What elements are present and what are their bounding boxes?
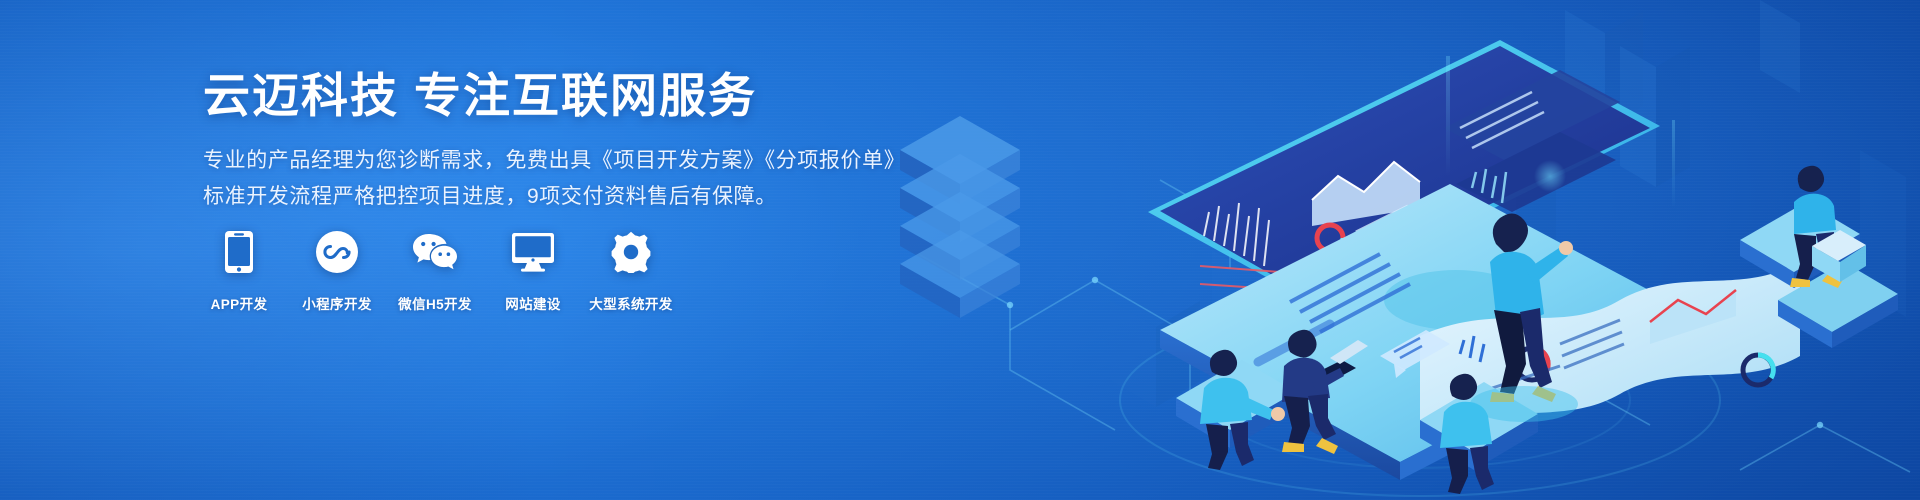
gear-icon xyxy=(610,229,652,275)
scroll-donut xyxy=(1516,348,1548,380)
service-item-website[interactable]: 网站建设 xyxy=(497,229,569,313)
screen-indicator-dot xyxy=(1327,275,1337,285)
pedestal-front-left xyxy=(1176,360,1296,448)
circuit-nodes xyxy=(1007,217,1823,428)
report-scroll xyxy=(1420,262,1800,434)
pedestal-right xyxy=(1740,202,1860,288)
person-foreground-left xyxy=(1200,350,1285,470)
circuit-lines xyxy=(920,180,1910,472)
screen-axis-line xyxy=(1200,266,1290,290)
scroll-donut-2 xyxy=(1743,355,1773,385)
screen-area-chart xyxy=(1312,162,1420,226)
service-item-mini-program[interactable]: 小程序开发 xyxy=(301,229,373,313)
screen-right-panel-top xyxy=(1444,70,1620,160)
scroll-area-chart xyxy=(1650,290,1736,344)
person-sitting-laptop xyxy=(1282,330,1368,454)
monitor-icon xyxy=(511,229,555,275)
wechat-icon xyxy=(411,229,459,275)
hero-subtitle-line-1: 专业的产品经理为您诊断需求，免费出具《项目开发方案》《分项报价单》 xyxy=(203,144,923,178)
person-foreground-right xyxy=(1440,374,1494,494)
pedestal-front-right xyxy=(1420,382,1538,470)
mobile-phone-icon xyxy=(224,229,254,275)
mini-program-icon xyxy=(316,229,358,275)
scroll-bars xyxy=(1460,336,1484,362)
box-parcel xyxy=(1812,230,1866,282)
screen-text-lines xyxy=(1308,206,1412,288)
service-item-wechat[interactable]: 微信H5开发 xyxy=(399,229,471,313)
service-label-app: APP开发 xyxy=(211,293,268,313)
light-streaks xyxy=(1446,56,1675,210)
hero-banner: 云迈科技 专注互联网服务 专业的产品经理为您诊断需求，免费出具《项目开发方案》《… xyxy=(0,0,1920,500)
person-with-box xyxy=(1790,166,1866,288)
tablet-text-lines xyxy=(1290,254,1410,332)
screen-chart-bars xyxy=(1204,203,1269,266)
screen-donut xyxy=(1317,225,1343,251)
service-label-website: 网站建设 xyxy=(505,293,561,313)
hero-subtitle-line-2: 标准开发流程严格把控项目进度，9项交付资料售后有保障。 xyxy=(203,180,923,214)
page-title: 云迈科技 专注互联网服务 xyxy=(203,70,923,122)
service-icon-list: APP开发 小程序开发 xyxy=(203,229,667,313)
service-item-app[interactable]: APP开发 xyxy=(203,229,275,313)
service-label-large-system: 大型系统开发 xyxy=(589,293,672,313)
service-item-large-system[interactable]: 大型系统开发 xyxy=(595,229,667,313)
floor-glow xyxy=(1120,304,1720,496)
tooltip-card xyxy=(1380,330,1450,378)
service-label-wechat: 微信H5开发 xyxy=(398,293,472,313)
person-standing-presenter xyxy=(1470,213,1578,422)
service-label-mini-program: 小程序开发 xyxy=(302,293,372,313)
scroll-text-lines xyxy=(1480,320,1624,392)
isometric-illustration xyxy=(860,0,1920,500)
screen-right-panel-bottom xyxy=(1456,132,1616,212)
city-skyline-blocks xyxy=(1110,0,1906,407)
hero-text-block: 云迈科技 专注互联网服务 专业的产品经理为您诊断需求，免费出具《项目开发方案》《… xyxy=(203,70,923,214)
pedestal-right-lower xyxy=(1778,262,1898,348)
hero-subtitle: 专业的产品经理为您诊断需求，免费出具《项目开发方案》《分项报价单》 标准开发流程… xyxy=(203,144,923,214)
tablet-platform xyxy=(1160,184,1690,480)
dashboard-screen xyxy=(1148,40,1660,300)
